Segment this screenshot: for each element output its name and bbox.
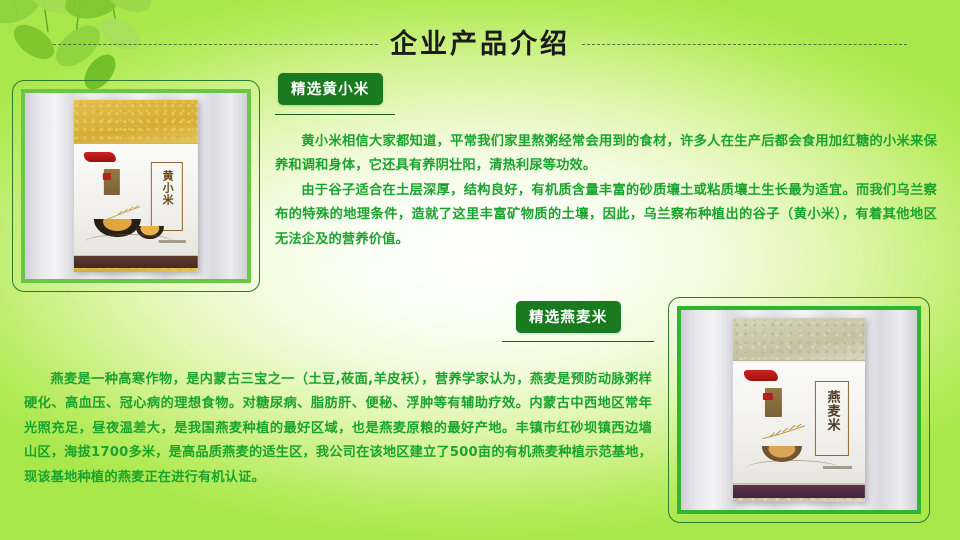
grain-texture-top bbox=[733, 318, 865, 362]
section-rule-millet bbox=[275, 114, 395, 115]
photo-image-millet: 黄小米 bbox=[21, 89, 251, 283]
section-body-millet: 黄小米相信大家都知道，平常我们家里熬粥经常会用到的食材，许多人在生产后都会食用加… bbox=[275, 130, 937, 252]
dashed-rule-right bbox=[582, 44, 907, 45]
grain-texture-top bbox=[74, 100, 198, 144]
brand-seal-icon bbox=[102, 173, 111, 180]
section-rule-oat bbox=[502, 341, 654, 342]
section-badge-millet[interactable]: 精选黄小米 bbox=[278, 73, 383, 105]
net-weight-text bbox=[158, 240, 185, 243]
photo-image-oat: 燕麦米 bbox=[677, 306, 921, 514]
brand-logo-icon bbox=[84, 152, 116, 162]
slide-header: 企业产品介绍 bbox=[0, 22, 960, 66]
package-oat: 燕麦米 bbox=[733, 318, 865, 502]
paragraph: 由于谷子适合在土层深厚，结构良好，有机质含量丰富的砂质壤土或粘质壤土生长最为适宜… bbox=[275, 179, 937, 252]
paragraph: 燕麦是一种高寒作物，是内蒙古三宝之一（土豆,莜面,羊皮袄），营养学家认为，燕麦是… bbox=[24, 368, 652, 490]
slide-canvas: 企业产品介绍 精选黄小米 黄小米相信大家都知道，平常我们家里熬粥经常会用到的食材… bbox=[0, 0, 960, 540]
package-label-oat: 燕麦米 bbox=[733, 360, 865, 483]
package-millet: 黄小米 bbox=[74, 100, 198, 271]
package-title-millet: 黄小米 bbox=[151, 162, 183, 231]
product-photo-oat[interactable]: 燕麦米 bbox=[668, 297, 930, 523]
oat-sprig-icon bbox=[749, 422, 820, 441]
section-badge-oat[interactable]: 精选燕麦米 bbox=[516, 301, 621, 333]
dashed-rule-left bbox=[53, 44, 378, 45]
section-body-oat: 燕麦是一种高寒作物，是内蒙古三宝之一（土豆,莜面,羊皮袄），营养学家认为，燕麦是… bbox=[24, 368, 652, 490]
product-photo-millet[interactable]: 黄小米 bbox=[12, 80, 260, 292]
package-footer-bar bbox=[74, 256, 198, 268]
brand-logo-icon bbox=[743, 370, 777, 381]
package-title-oat: 燕麦米 bbox=[815, 381, 849, 456]
net-weight-text bbox=[823, 466, 852, 470]
package-footer-bar bbox=[733, 485, 865, 498]
page-title: 企业产品介绍 bbox=[390, 31, 570, 58]
paragraph: 黄小米相信大家都知道，平常我们家里熬粥经常会用到的食材，许多人在生产后都会食用加… bbox=[275, 130, 937, 179]
brand-seal-icon bbox=[763, 393, 772, 400]
package-label-millet: 黄小米 bbox=[74, 143, 198, 256]
